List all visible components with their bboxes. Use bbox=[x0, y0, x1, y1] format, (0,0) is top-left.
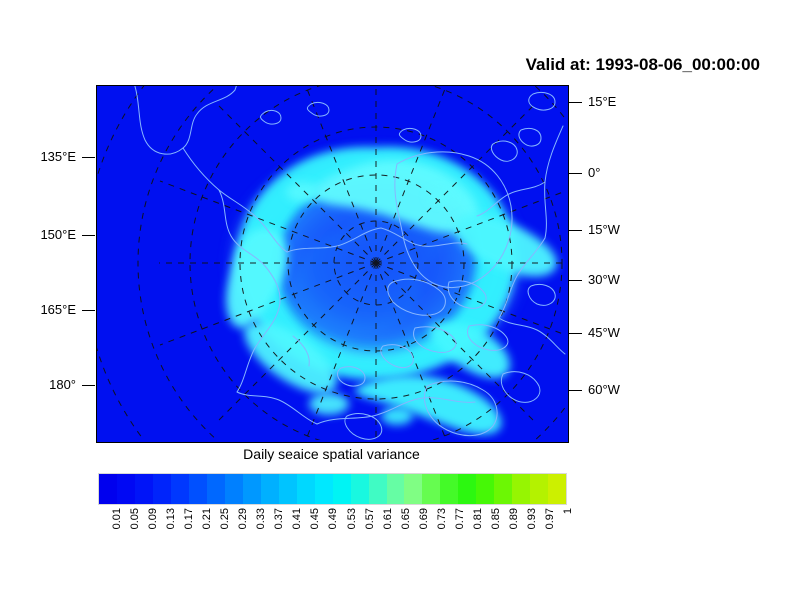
colorbar-tick-label: 0.17 bbox=[183, 508, 195, 529]
colorbar-tick-label: 0.57 bbox=[364, 508, 376, 529]
axis-label-right-3: 30°W bbox=[588, 272, 620, 287]
colorbar-swatch bbox=[135, 474, 153, 504]
colorbar-swatch bbox=[530, 474, 548, 504]
colorbar-swatch bbox=[387, 474, 405, 504]
colorbar-swatch bbox=[458, 474, 476, 504]
colorbar-tick-label: 0.93 bbox=[526, 508, 538, 529]
axis-label-right-4: 45°W bbox=[588, 325, 620, 340]
colorbar-swatch bbox=[548, 474, 566, 504]
colorbar-tick-labels: 0.010.050.090.130.170.210.250.290.330.37… bbox=[98, 508, 567, 568]
colorbar-tick-label: 0.37 bbox=[273, 508, 285, 529]
colorbar-tick-label: 0.45 bbox=[309, 508, 321, 529]
figure-root: Valid at: 1993-08-06_00:00:00 bbox=[0, 0, 792, 612]
colorbar-tick-label: 0.61 bbox=[382, 508, 394, 529]
colorbar-swatch bbox=[153, 474, 171, 504]
colorbar-tick-label: 0.01 bbox=[111, 508, 123, 529]
axis-tick-left-1 bbox=[82, 235, 95, 236]
map-canvas bbox=[97, 86, 566, 440]
colorbar-tick-label: 0.29 bbox=[237, 508, 249, 529]
colorbar-tick-label: 0.89 bbox=[508, 508, 520, 529]
colorbar-swatch bbox=[476, 474, 494, 504]
axis-label-left-3: 180° bbox=[0, 377, 76, 392]
axis-label-left-0: 135°E bbox=[0, 149, 76, 164]
colorbar-tick-label: 0.21 bbox=[201, 508, 213, 529]
colorbar-swatch bbox=[117, 474, 135, 504]
colorbar bbox=[98, 473, 567, 505]
colorbar-swatch bbox=[333, 474, 351, 504]
map-caption: Daily seaice spatial variance bbox=[96, 446, 567, 462]
axis-tick-right-3 bbox=[569, 280, 582, 281]
axis-tick-left-2 bbox=[82, 310, 95, 311]
colorbar-tick-label: 0.97 bbox=[544, 508, 556, 529]
axis-label-left-2: 165°E bbox=[0, 302, 76, 317]
axis-label-right-2: 15°W bbox=[588, 222, 620, 237]
colorbar-swatch bbox=[261, 474, 279, 504]
colorbar-swatch bbox=[369, 474, 387, 504]
colorbar-tick-label: 0.81 bbox=[472, 508, 484, 529]
page-title: Valid at: 1993-08-06_00:00:00 bbox=[526, 55, 760, 75]
colorbar-swatch bbox=[404, 474, 422, 504]
axis-label-right-0: 15°E bbox=[588, 94, 616, 109]
colorbar-swatch bbox=[512, 474, 530, 504]
colorbar-swatch bbox=[440, 474, 458, 504]
colorbar-swatch bbox=[494, 474, 512, 504]
axis-tick-right-5 bbox=[569, 390, 582, 391]
colorbar-tick-label: 0.05 bbox=[129, 508, 141, 529]
axis-label-right-1: 0° bbox=[588, 165, 600, 180]
colorbar-tick-label: 0.85 bbox=[490, 508, 502, 529]
colorbar-swatch bbox=[315, 474, 333, 504]
colorbar-tick-label: 0.49 bbox=[327, 508, 339, 529]
colorbar-swatch bbox=[171, 474, 189, 504]
colorbar-swatch bbox=[422, 474, 440, 504]
colorbar-tick-label: 0.09 bbox=[147, 508, 159, 529]
axis-label-right-5: 60°W bbox=[588, 382, 620, 397]
colorbar-tick-label: 1 bbox=[562, 508, 574, 514]
axis-tick-right-0 bbox=[569, 102, 582, 103]
colorbar-swatch bbox=[225, 474, 243, 504]
axis-tick-right-2 bbox=[569, 230, 582, 231]
colorbar-swatch bbox=[189, 474, 207, 504]
colorbar-tick-label: 0.33 bbox=[255, 508, 267, 529]
colorbar-swatch bbox=[351, 474, 369, 504]
colorbar-tick-label: 0.73 bbox=[436, 508, 448, 529]
colorbar-swatch bbox=[279, 474, 297, 504]
colorbar-swatch bbox=[99, 474, 117, 504]
colorbar-tick-label: 0.65 bbox=[400, 508, 412, 529]
colorbar-swatch bbox=[243, 474, 261, 504]
colorbar-tick-label: 0.13 bbox=[165, 508, 177, 529]
axis-tick-left-3 bbox=[82, 385, 95, 386]
colorbar-swatch bbox=[297, 474, 315, 504]
colorbar-tick-label: 0.41 bbox=[291, 508, 303, 529]
axis-label-left-1: 150°E bbox=[0, 227, 76, 242]
map-panel bbox=[96, 85, 569, 443]
colorbar-swatch bbox=[207, 474, 225, 504]
colorbar-tick-label: 0.25 bbox=[219, 508, 231, 529]
colorbar-tick-label: 0.69 bbox=[418, 508, 430, 529]
colorbar-tick-label: 0.77 bbox=[454, 508, 466, 529]
colorbar-swatches bbox=[98, 473, 567, 505]
colorbar-tick-label: 0.53 bbox=[346, 508, 358, 529]
axis-tick-right-1 bbox=[569, 173, 582, 174]
axis-tick-right-4 bbox=[569, 333, 582, 334]
axis-tick-left-0 bbox=[82, 157, 95, 158]
